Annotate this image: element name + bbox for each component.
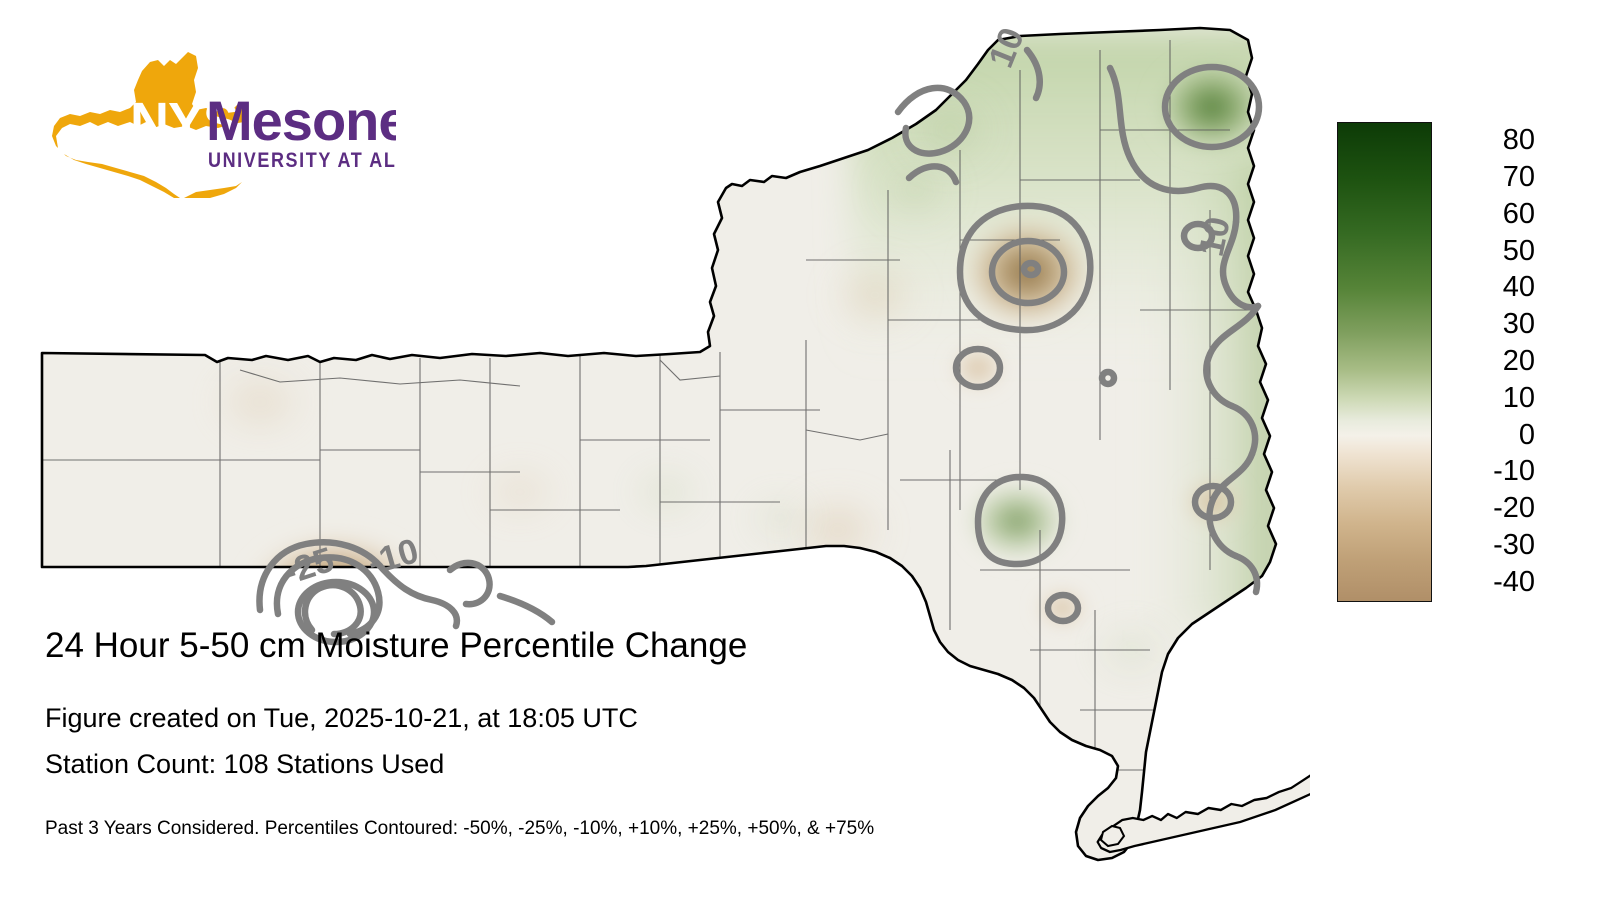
- colorbar-tick-neg20: -20: [1437, 494, 1535, 523]
- colorbar-tick-80: 80: [1437, 126, 1535, 155]
- station-count-label: Station Count: 108 Stations Used: [45, 747, 1165, 781]
- colorbar-tick-70: 70: [1437, 163, 1535, 192]
- colorbar-tick-0: 0: [1437, 421, 1535, 450]
- colorbar-tick-30: 30: [1437, 310, 1535, 339]
- colorbar-tick-40: 40: [1437, 273, 1535, 302]
- colorbar-tick-labels: 80706050403020100-10-20-30-40: [1437, 108, 1547, 614]
- colorbar-gradient: [1337, 122, 1432, 602]
- figure-title: 24 Hour 5-50 cm Moisture Percentile Chan…: [45, 624, 1165, 668]
- contour-label-10-east: 10: [1192, 213, 1238, 259]
- figure-canvas: NYS Mesonet UNIVERSITY AT ALBANY: [0, 0, 1600, 900]
- colorbar-tick-20: 20: [1437, 347, 1535, 376]
- caption-block: 24 Hour 5-50 cm Moisture Percentile Chan…: [45, 624, 1165, 841]
- colorbar-tick-50: 50: [1437, 237, 1535, 266]
- colorbar-tick-neg10: -10: [1437, 457, 1535, 486]
- colorbar-tick-neg40: -40: [1437, 568, 1535, 597]
- figure-footnote: Past 3 Years Considered. Percentiles Con…: [45, 817, 1165, 841]
- colorbar: 80706050403020100-10-20-30-40: [1337, 122, 1433, 600]
- figure-created-timestamp: Figure created on Tue, 2025-10-21, at 18…: [45, 701, 1165, 735]
- colorbar-tick-60: 60: [1437, 200, 1535, 229]
- colorbar-tick-10: 10: [1437, 384, 1535, 413]
- colorbar-tick-neg30: -30: [1437, 531, 1535, 560]
